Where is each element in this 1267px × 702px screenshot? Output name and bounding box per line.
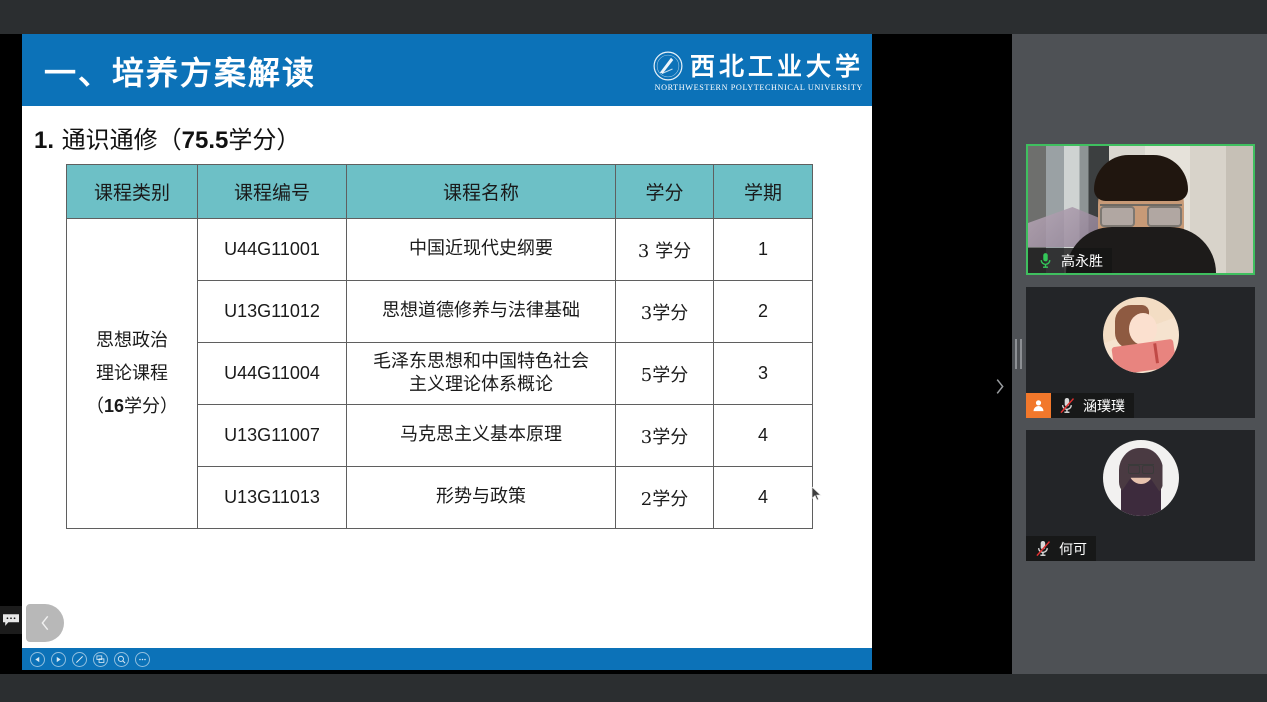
chevron-left-icon xyxy=(40,615,51,631)
university-name-en: NORTHWESTERN POLYTECHNICAL UNIVERSITY xyxy=(655,83,863,92)
chat-bubble-icon xyxy=(3,614,19,627)
subtitle-credits: 75.5 xyxy=(182,127,229,154)
university-seal-icon xyxy=(653,51,683,81)
cell-term: 3 xyxy=(714,343,813,405)
slide-toolbar[interactable] xyxy=(22,648,872,670)
cell-name: 形势与政策 xyxy=(347,467,616,529)
university-logo: 西北工业大学 NORTHWESTERN POLYTECHNICAL UNIVER… xyxy=(653,51,864,92)
meeting-window: 一、培养方案解读 西北工业大学 NORTHWESTERN POLYTECHNIC… xyxy=(0,0,1267,702)
cell-credit: 3 学分 xyxy=(616,219,714,281)
cell-code: U13G11007 xyxy=(198,405,347,467)
expand-panel-button[interactable] xyxy=(988,372,1010,400)
window-top-band xyxy=(0,0,1267,34)
next-slide-button[interactable] xyxy=(51,652,66,667)
mouse-pointer-icon xyxy=(811,486,823,502)
course-table: 课程类别 课程编号 课程名称 学分 学期 思想政治 理论课程 （16学分） xyxy=(66,164,813,529)
cell-code: U13G11013 xyxy=(198,467,347,529)
participant-video-strip: 高永胜 xyxy=(1024,34,1267,674)
category-paren-open: （ xyxy=(86,396,104,417)
triangle-left-icon xyxy=(34,656,41,663)
microphone-muted-icon[interactable] xyxy=(1056,397,1078,414)
pen-annotate-button[interactable] xyxy=(72,652,87,667)
chevron-right-icon xyxy=(994,378,1005,395)
participant-name-bar: 何可 xyxy=(1026,536,1096,561)
cell-name-line-1: 毛泽东思想和中国特色社会 xyxy=(349,351,613,374)
participant-name: 涵璞璞 xyxy=(1083,396,1125,416)
cell-code: U44G11001 xyxy=(198,219,347,281)
cell-credit: 2学分 xyxy=(616,467,714,529)
university-name-cn: 西北工业大学 xyxy=(690,54,864,79)
participant-tile-2[interactable]: 何可 xyxy=(1026,430,1255,561)
vertical-drag-handle-icon xyxy=(1015,339,1022,369)
cell-name: 思想道德修养与法律基础 xyxy=(347,281,616,343)
cell-credit: 5学分 xyxy=(616,343,714,405)
participant-name-bar: 高永胜 xyxy=(1028,248,1112,273)
participant-name: 高永胜 xyxy=(1061,251,1103,271)
microphone-on-icon[interactable] xyxy=(1034,252,1056,269)
category-credits: 16 xyxy=(104,396,124,416)
column-header-category: 课程类别 xyxy=(67,165,198,219)
cell-category: 思想政治 理论课程 （16学分） xyxy=(67,219,198,529)
host-person-icon xyxy=(1026,393,1051,418)
grid-slides-icon xyxy=(96,655,105,664)
category-line-1: 思想政治 xyxy=(69,324,195,357)
slide-header-bar: 一、培养方案解读 西北工业大学 NORTHWESTERN POLYTECHNIC… xyxy=(22,34,872,106)
ellipsis-icon xyxy=(138,655,147,664)
category-paren-close: 学分） xyxy=(124,396,178,417)
cell-term: 4 xyxy=(714,405,813,467)
hair-shape xyxy=(1094,155,1188,201)
table-row: 思想政治 理论课程 （16学分） U44G11001 中国近现代史纲要 3 学分… xyxy=(67,219,813,281)
column-header-credit: 学分 xyxy=(616,165,714,219)
participant-tile-1[interactable]: 涵璞璞 xyxy=(1026,287,1255,418)
cell-term: 1 xyxy=(714,219,813,281)
microphone-muted-icon[interactable] xyxy=(1032,540,1054,557)
avatar-face xyxy=(1129,313,1157,345)
cell-name: 马克思主义基本原理 xyxy=(347,405,616,467)
cell-name: 毛泽东思想和中国特色社会 主义理论体系概论 xyxy=(347,343,616,405)
avatar xyxy=(1103,440,1179,516)
cell-code: U44G11004 xyxy=(198,343,347,405)
slide-subtitle: 1. 通识通修（75.5学分） xyxy=(34,120,300,155)
panel-drag-handle[interactable] xyxy=(1012,34,1024,674)
participant-name: 何可 xyxy=(1059,539,1087,559)
participant-name-bar: 涵璞璞 xyxy=(1026,393,1134,418)
cell-term: 2 xyxy=(714,281,813,343)
prev-slide-button[interactable] xyxy=(30,652,45,667)
presentation-slide: 一、培养方案解读 西北工业大学 NORTHWESTERN POLYTECHNIC… xyxy=(22,34,872,648)
avatar-glasses xyxy=(1128,464,1154,472)
column-header-name: 课程名称 xyxy=(347,165,616,219)
collapse-panel-button[interactable] xyxy=(26,604,64,642)
category-line-2: 理论课程 xyxy=(69,357,195,390)
subtitle-suffix: 学分） xyxy=(228,126,300,154)
glasses-shape xyxy=(1100,204,1182,222)
cell-code: U13G11012 xyxy=(198,281,347,343)
subtitle-number: 1. xyxy=(34,127,54,154)
zoom-button[interactable] xyxy=(114,652,129,667)
slide-title: 一、培养方案解读 xyxy=(44,48,316,94)
cell-credit: 3学分 xyxy=(616,405,714,467)
triangle-right-icon xyxy=(55,656,62,663)
participant-tile-0[interactable]: 高永胜 xyxy=(1026,144,1255,275)
shared-screen-region: 一、培养方案解读 西北工业大学 NORTHWESTERN POLYTECHNIC… xyxy=(0,34,1012,674)
cell-name-line-2: 主义理论体系概论 xyxy=(349,374,613,397)
table-header-row: 课程类别 课程编号 课程名称 学分 学期 xyxy=(67,165,813,219)
column-header-code: 课程编号 xyxy=(198,165,347,219)
category-line-3: （16学分） xyxy=(69,390,195,423)
pen-icon xyxy=(75,655,84,664)
more-options-button[interactable] xyxy=(135,652,150,667)
cell-term: 4 xyxy=(714,467,813,529)
slide-grid-button[interactable] xyxy=(93,652,108,667)
subtitle-text: 通识通修（ xyxy=(54,126,182,154)
column-header-term: 学期 xyxy=(714,165,813,219)
cell-name: 中国近现代史纲要 xyxy=(347,219,616,281)
magnifier-icon xyxy=(117,655,126,664)
cell-credit: 3学分 xyxy=(616,281,714,343)
chat-button[interactable] xyxy=(0,606,22,634)
avatar xyxy=(1103,297,1179,373)
